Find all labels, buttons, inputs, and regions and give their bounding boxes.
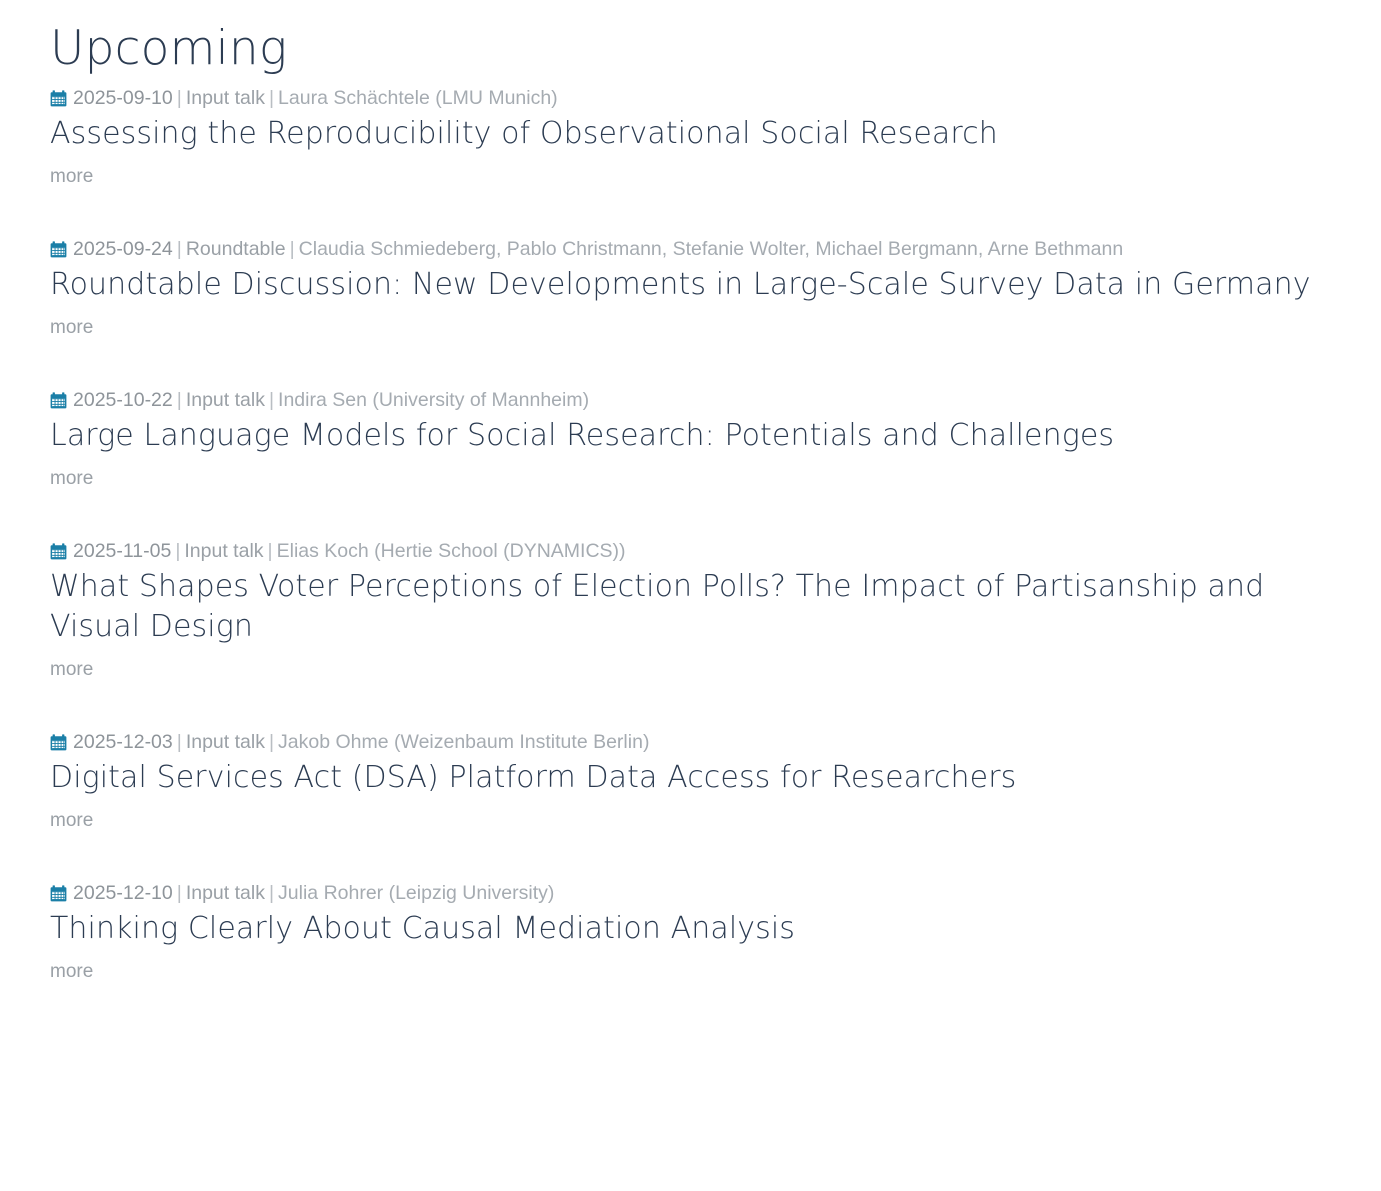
meta-separator: | [265,731,278,753]
event-speakers: Claudia Schmiedeberg, Pablo Christmann, … [299,238,1124,260]
event-date: 2025-11-05 [73,540,171,562]
event-more-link[interactable]: more [50,166,93,189]
event-title[interactable]: Assessing the Reproducibility of Observa… [50,114,1331,154]
meta-separator: | [173,389,186,411]
event-item: 2025-11-05|Input talk|Elias Koch (Hertie… [50,539,1331,682]
meta-separator: | [286,238,299,260]
event-more-link[interactable]: more [50,961,93,984]
event-date: 2025-10-22 [73,389,173,411]
event-title[interactable]: Thinking Clearly About Causal Mediation … [50,909,1331,949]
event-item: 2025-09-10|Input talk|Laura Schächtele (… [50,86,1331,189]
event-kind: Input talk [184,540,263,562]
event-meta: 2025-09-24|Roundtable|Claudia Schmiedebe… [50,237,1331,262]
calendar-icon [50,885,67,902]
calendar-icon [50,543,67,560]
event-kind: Roundtable [186,238,286,260]
event-item: 2025-12-03|Input talk|Jakob Ohme (Weizen… [50,730,1331,833]
meta-separator: | [265,389,278,411]
page-title: Upcoming [50,0,1331,86]
event-title[interactable]: Digital Services Act (DSA) Platform Data… [50,758,1331,798]
event-date: 2025-12-03 [73,731,173,753]
event-speakers: Elias Koch (Hertie School (DYNAMICS)) [277,540,626,562]
event-meta: 2025-09-10|Input talk|Laura Schächtele (… [50,86,1331,111]
event-item: 2025-12-10|Input talk|Julia Rohrer (Leip… [50,881,1331,984]
calendar-icon [50,392,67,409]
event-title[interactable]: Roundtable Discussion: New Developments … [50,265,1331,305]
event-item: 2025-10-22|Input talk|Indira Sen (Univer… [50,388,1331,491]
meta-separator: | [265,882,278,904]
event-list: 2025-09-10|Input talk|Laura Schächtele (… [50,86,1331,984]
event-kind: Input talk [186,87,265,109]
meta-separator: | [173,87,186,109]
meta-separator: | [173,882,186,904]
event-more-link[interactable]: more [50,810,93,833]
event-item: 2025-09-24|Roundtable|Claudia Schmiedebe… [50,237,1331,340]
event-more-link[interactable]: more [50,659,93,682]
event-meta: 2025-12-10|Input talk|Julia Rohrer (Leip… [50,881,1331,906]
event-meta: 2025-10-22|Input talk|Indira Sen (Univer… [50,388,1331,413]
event-kind: Input talk [186,731,265,753]
event-speakers: Indira Sen (University of Mannheim) [278,389,589,411]
meta-separator: | [264,540,277,562]
event-title[interactable]: Large Language Models for Social Researc… [50,416,1331,456]
calendar-icon [50,734,67,751]
meta-separator: | [265,87,278,109]
event-speakers: Laura Schächtele (LMU Munich) [278,87,558,109]
event-meta: 2025-11-05|Input talk|Elias Koch (Hertie… [50,539,1331,564]
event-kind: Input talk [186,882,265,904]
upcoming-events-page: Upcoming [0,0,1381,984]
event-meta: 2025-12-03|Input talk|Jakob Ohme (Weizen… [50,730,1331,755]
event-date: 2025-09-10 [73,87,173,109]
event-date: 2025-12-10 [73,882,173,904]
event-more-link[interactable]: more [50,468,93,491]
meta-separator: | [173,731,186,753]
event-speakers: Jakob Ohme (Weizenbaum Institute Berlin) [278,731,649,753]
event-date: 2025-09-24 [73,238,173,260]
event-more-link[interactable]: more [50,317,93,340]
meta-separator: | [173,238,186,260]
calendar-icon [50,90,67,107]
event-title[interactable]: What Shapes Voter Perceptions of Electio… [50,567,1331,647]
meta-separator: | [171,540,184,562]
event-speakers: Julia Rohrer (Leipzig University) [278,882,554,904]
calendar-icon [50,241,67,258]
event-kind: Input talk [186,389,265,411]
